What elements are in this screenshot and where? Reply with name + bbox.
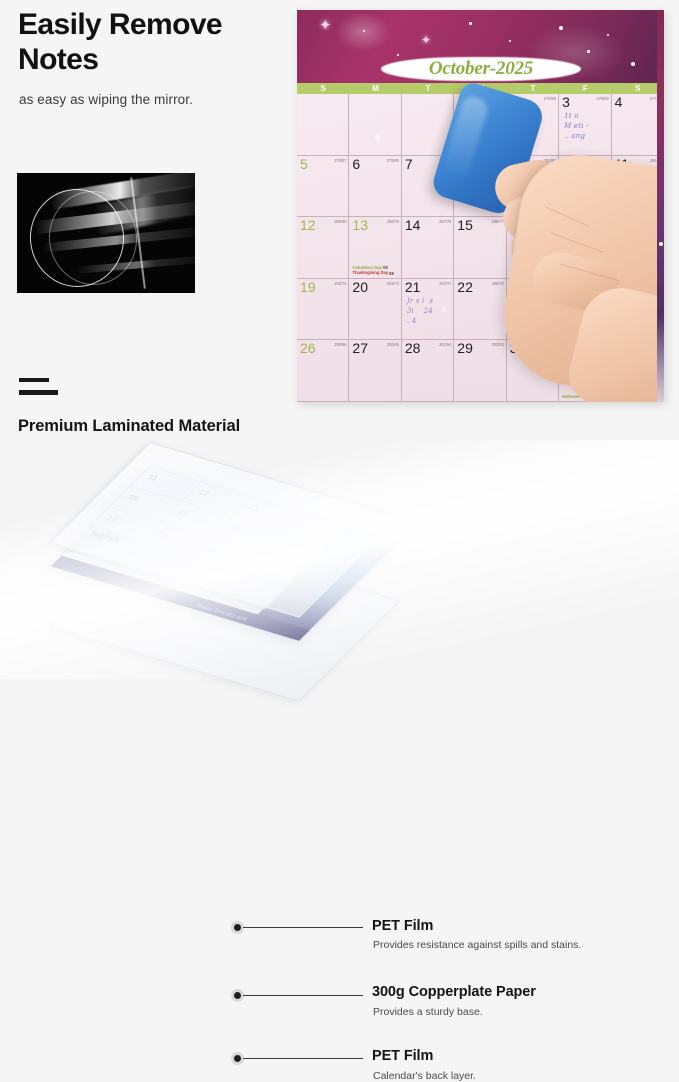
callout-title-pet-film-back: PET Film — [372, 1048, 433, 1064]
calendar-day-cell[interactable]: 15288/77 — [454, 217, 506, 279]
callout-line-pet-film-back — [243, 1058, 363, 1059]
day-of-year-count: 282/83 — [544, 158, 556, 163]
weekday-label-3: W — [454, 83, 506, 94]
day-of-year-count: 279/86 — [387, 158, 399, 163]
calendar-day-cell[interactable]: 5278/87 — [297, 156, 349, 218]
callout-title-copperplate-paper: 300g Copperplate Paper — [372, 984, 536, 1000]
star-dot — [397, 54, 399, 56]
day-of-year-count: 299/66 — [334, 342, 346, 347]
calendar-empty-cell — [297, 94, 349, 156]
holiday-label: Columbus DayThanksgiving Day — [352, 265, 394, 276]
calendar-day-cell[interactable]: 17290/75 — [559, 217, 611, 279]
calendar-day-cell[interactable]: 23296/69 — [507, 279, 559, 341]
calendar-day-cell[interactable]: 19292/73 — [297, 279, 349, 341]
star-dot — [607, 34, 609, 36]
us-flag-icon — [584, 395, 589, 398]
day-of-year-count: 283/82 — [596, 158, 608, 163]
day-of-year-count: 304/61 — [596, 342, 608, 347]
callout-desc-pet-film-front: Provides resistance against spills and s… — [373, 939, 581, 951]
day-of-year-count: 301/64 — [439, 342, 451, 347]
day-of-year-count: 302/63 — [491, 342, 503, 347]
day-of-year-count: 294/71 — [439, 281, 451, 286]
canada-flag-icon — [389, 272, 394, 275]
weekday-label-5: F — [559, 83, 611, 94]
calendar-day-cell[interactable]: 1274/91Yom KippurBegins at Sunset — [454, 94, 506, 156]
day-of-year-count: 296/69 — [544, 281, 556, 286]
sparkle-icon: ✦ — [421, 34, 431, 46]
calendar-day-cell[interactable]: 13286/79Columbus DayThanksgiving Day — [349, 217, 401, 279]
day-of-year-count: 281/84 — [491, 158, 503, 163]
calendar-weekday-header: SMTWTFS — [297, 83, 664, 94]
pet-film-photo — [17, 173, 195, 293]
calendar-day-cell[interactable]: 7280/85 — [402, 156, 454, 218]
calendar-day-cell[interactable]: 6279/86 — [349, 156, 401, 218]
day-of-year-count: 286/79 — [387, 219, 399, 224]
calendar-day-cell[interactable]: 21294/71Jr s i s 3i 24 . 4 — [402, 279, 454, 341]
calendar-day-cell[interactable]: 28301/64 — [402, 340, 454, 402]
day-of-year-count: 288/77 — [491, 219, 503, 224]
calendar-header-banner: ✦ ✦ October-2025 — [297, 10, 664, 83]
day-of-year-count: 292/73 — [334, 281, 346, 286]
callout-line-copperplate-paper — [243, 995, 363, 996]
day-of-year-count: 287/78 — [439, 219, 451, 224]
day-of-year-count: 276/89 — [596, 96, 608, 101]
day-of-year-count: 295/70 — [491, 281, 503, 286]
holiday-label: Halloween — [562, 394, 589, 399]
day-of-year-count: 303/62 — [544, 342, 556, 347]
day-of-year-count: 293/72 — [387, 281, 399, 286]
day-of-year-count: 274/91 — [491, 96, 503, 101]
calendar-grid: 1274/91Yom KippurBegins at Sunset2275/90… — [297, 94, 664, 402]
calendar-month-title: October-2025 — [381, 58, 581, 80]
calendar-day-cell[interactable]: 30303/62 — [507, 340, 559, 402]
calendar-day-cell[interactable]: 29302/63 — [454, 340, 506, 402]
us-flag-icon — [482, 143, 487, 146]
day-of-year-count: 289/76 — [544, 219, 556, 224]
sparkle-icon: ✦ — [319, 18, 332, 33]
us-flag-icon — [383, 266, 388, 269]
callout-desc-pet-film-back: Calendar's back layer. — [373, 1070, 476, 1082]
binding-hole — [659, 242, 663, 246]
callout-title-pet-film-front: PET Film — [372, 918, 433, 934]
calendar-day-cell[interactable]: 12285/80 — [297, 217, 349, 279]
callout-desc-copperplate-paper: Provides a sturdy base. — [373, 1006, 483, 1018]
star-dot — [509, 40, 511, 42]
star-dot — [469, 22, 472, 25]
calendar-day-cell[interactable]: 27300/65 — [349, 340, 401, 402]
calendar-empty-cell — [349, 94, 401, 156]
holiday-label: Yom KippurBegins at Sunset — [457, 142, 491, 153]
weekday-label-4: T — [507, 83, 559, 94]
page-subheadline: as easy as wiping the mirror. — [19, 92, 289, 107]
calendar-day-cell[interactable]: 8281/84r s se el — [454, 156, 506, 218]
calendar-day-cell[interactable]: 24297/68 — [559, 279, 611, 341]
calendar-day-cell[interactable]: 2275/90Pre re l ch — [507, 94, 559, 156]
star-dot — [587, 50, 590, 53]
calendar-day-cell[interactable]: 9282/83 — [507, 156, 559, 218]
handwritten-note: 1t o M eti - .. ang — [564, 111, 589, 141]
calendar-binding-strip — [657, 10, 664, 402]
page-headline: Easily Remove Notes — [18, 8, 286, 78]
calendar-day-cell[interactable]: 20293/72 — [349, 279, 401, 341]
calendar-empty-cell — [402, 94, 454, 156]
handwritten-note: Pre re l ch — [512, 111, 535, 131]
star-dot — [631, 62, 635, 66]
divider-mark-bottom — [19, 390, 58, 395]
weekday-label-1: M — [349, 83, 401, 94]
handwritten-note: r s se el — [459, 173, 469, 203]
calendar-day-cell[interactable]: 10283/82 — [559, 156, 611, 218]
day-of-year-count: 285/80 — [334, 219, 346, 224]
day-of-year-count: 280/85 — [439, 158, 451, 163]
handwritten-note: Jr s i s 3i 24 . 4 — [407, 296, 433, 326]
section-title: Premium Laminated Material — [18, 417, 438, 436]
day-of-year-count: 300/65 — [387, 342, 399, 347]
star-dot — [559, 26, 563, 30]
hero-section: Easily Remove Notes as easy as wiping th… — [0, 0, 679, 410]
laminate-section: 11 12 13 18 19 20 24 25 26 27 NOTES Mode… — [0, 440, 679, 679]
day-of-year-count: 297/68 — [596, 281, 608, 286]
calendar-day-cell[interactable]: 22295/70 — [454, 279, 506, 341]
weekday-label-0: S — [297, 83, 349, 94]
divider-mark-top — [19, 378, 49, 382]
day-of-year-count: 290/75 — [596, 219, 608, 224]
calendar-day-cell[interactable]: 3276/891t o M eti - .. ang — [559, 94, 611, 156]
day-of-year-count: 278/87 — [334, 158, 346, 163]
calendar-photo: ✦ ✦ October-2025 SMTWTFS 1274/91Yom Kipp… — [297, 10, 664, 402]
day-of-year-count: 275/90 — [544, 96, 556, 101]
weekday-label-2: T — [402, 83, 454, 94]
calendar-day-cell[interactable]: 16289/76 — [507, 217, 559, 279]
calendar-day-cell[interactable]: 14287/78 — [402, 217, 454, 279]
star-dot — [363, 30, 365, 32]
calendar-day-cell[interactable]: 31304/61Halloween — [559, 340, 611, 402]
callout-line-pet-film-front — [243, 927, 363, 928]
calendar-day-cell[interactable]: 26299/66 — [297, 340, 349, 402]
